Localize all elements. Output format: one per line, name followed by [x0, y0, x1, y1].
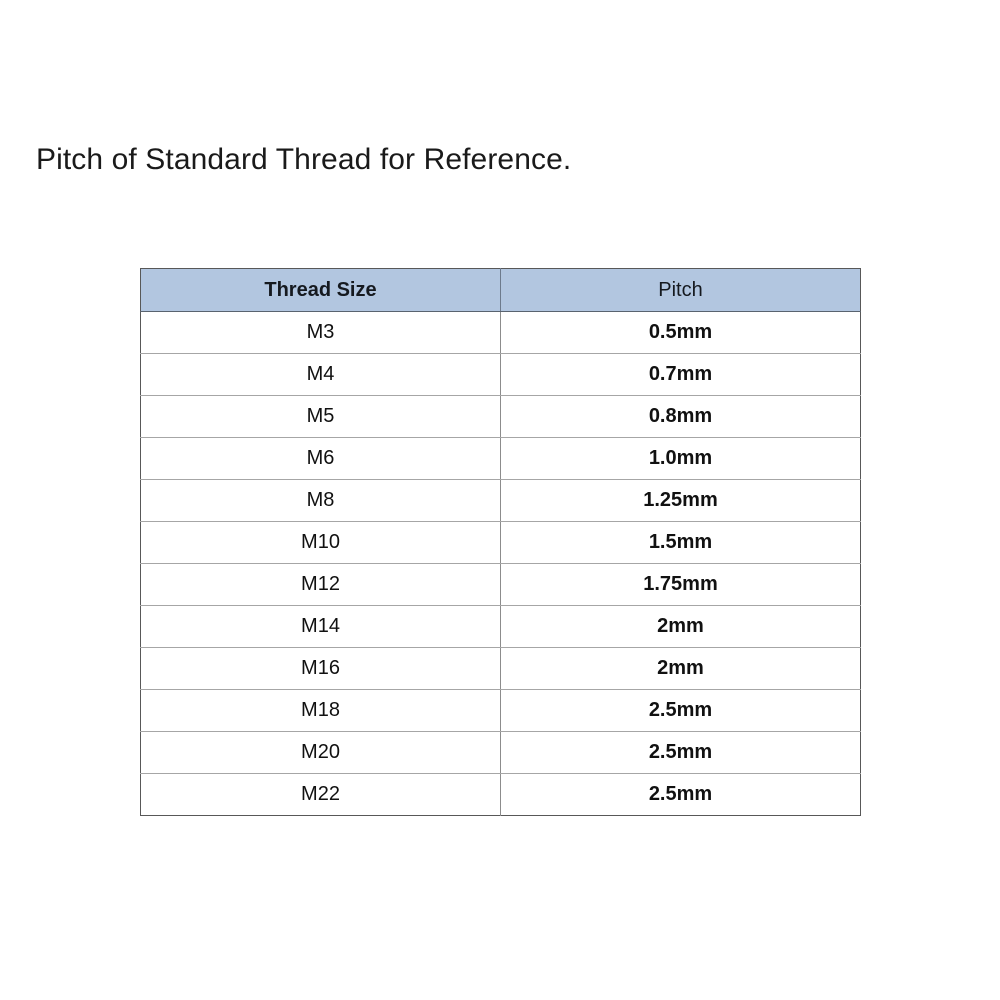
table-row: M81.25mm [141, 480, 861, 522]
table-row: M40.7mm [141, 354, 861, 396]
cell-pitch: 2mm [501, 606, 861, 648]
cell-thread-size: M3 [141, 312, 501, 354]
thread-pitch-table-container: Thread Size Pitch M30.5mmM40.7mmM50.8mmM… [140, 268, 860, 816]
cell-pitch: 0.7mm [501, 354, 861, 396]
cell-pitch: 0.5mm [501, 312, 861, 354]
table-row: M162mm [141, 648, 861, 690]
table-header: Thread Size Pitch [141, 269, 861, 312]
cell-pitch: 1.75mm [501, 564, 861, 606]
table-row: M30.5mm [141, 312, 861, 354]
cell-thread-size: M18 [141, 690, 501, 732]
page-canvas: Pitch of Standard Thread for Reference. … [0, 0, 1000, 1000]
page-title: Pitch of Standard Thread for Reference. [36, 141, 571, 179]
column-header-thread-size: Thread Size [141, 269, 501, 312]
table-row: M182.5mm [141, 690, 861, 732]
cell-thread-size: M5 [141, 396, 501, 438]
cell-pitch: 0.8mm [501, 396, 861, 438]
cell-thread-size: M8 [141, 480, 501, 522]
cell-thread-size: M10 [141, 522, 501, 564]
table-row: M222.5mm [141, 774, 861, 816]
table-row: M202.5mm [141, 732, 861, 774]
cell-pitch: 2.5mm [501, 774, 861, 816]
thread-pitch-table: Thread Size Pitch M30.5mmM40.7mmM50.8mmM… [140, 268, 861, 816]
table-body: M30.5mmM40.7mmM50.8mmM61.0mmM81.25mmM101… [141, 312, 861, 816]
cell-thread-size: M16 [141, 648, 501, 690]
cell-pitch: 1.0mm [501, 438, 861, 480]
cell-pitch: 1.25mm [501, 480, 861, 522]
cell-pitch: 2.5mm [501, 732, 861, 774]
cell-pitch: 2mm [501, 648, 861, 690]
cell-pitch: 2.5mm [501, 690, 861, 732]
cell-thread-size: M4 [141, 354, 501, 396]
table-row: M101.5mm [141, 522, 861, 564]
table-row: M50.8mm [141, 396, 861, 438]
table-row: M121.75mm [141, 564, 861, 606]
cell-thread-size: M20 [141, 732, 501, 774]
table-row: M61.0mm [141, 438, 861, 480]
column-header-pitch: Pitch [501, 269, 861, 312]
cell-thread-size: M22 [141, 774, 501, 816]
cell-thread-size: M14 [141, 606, 501, 648]
cell-thread-size: M6 [141, 438, 501, 480]
cell-thread-size: M12 [141, 564, 501, 606]
table-row: M142mm [141, 606, 861, 648]
table-header-row: Thread Size Pitch [141, 269, 861, 312]
cell-pitch: 1.5mm [501, 522, 861, 564]
